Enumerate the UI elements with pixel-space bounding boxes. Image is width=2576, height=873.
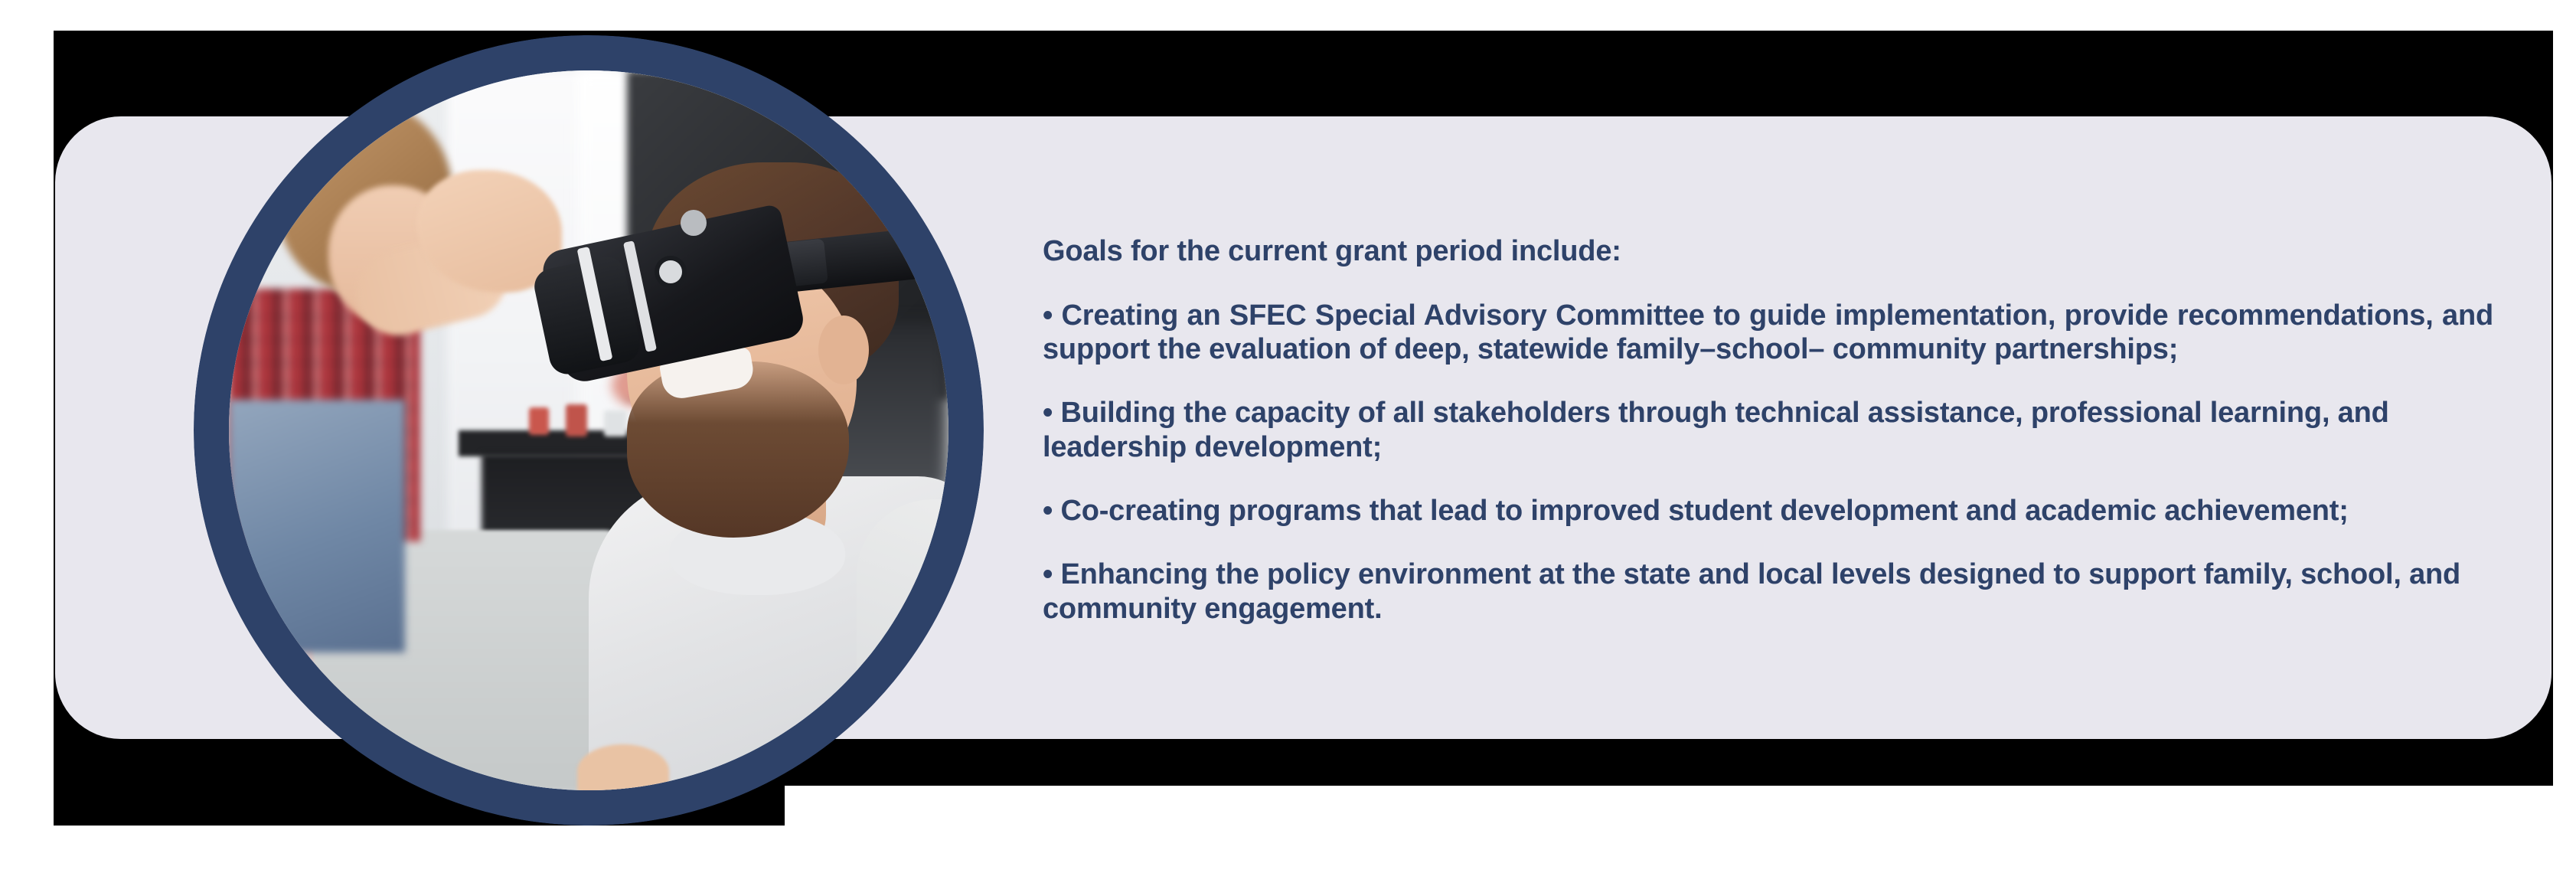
goal-bullet-4: • Enhancing the policy environment at th… bbox=[1043, 557, 2493, 626]
photo-shelf-object-2 bbox=[566, 404, 587, 436]
circular-photo-image bbox=[229, 70, 948, 790]
goal-bullet-1: • Creating an SFEC Special Advisory Comm… bbox=[1043, 299, 2493, 368]
goal-bullet-2: • Building the capacity of all stakehold… bbox=[1043, 396, 2493, 465]
photo-man-ear bbox=[818, 316, 869, 384]
goals-text-column: Goals for the current grant period inclu… bbox=[1043, 234, 2493, 626]
photo-vr-knob bbox=[681, 210, 707, 236]
photo-shelf-object-3 bbox=[604, 410, 627, 436]
slide-canvas: Goals for the current grant period inclu… bbox=[0, 0, 2576, 873]
photo-shelf-object-1 bbox=[529, 407, 549, 435]
goal-bullet-3: • Co-creating programs that lead to impr… bbox=[1043, 494, 2493, 528]
photo-vr-lens bbox=[659, 260, 682, 283]
photo-child-overalls bbox=[229, 400, 405, 652]
goals-heading: Goals for the current grant period inclu… bbox=[1043, 234, 2493, 270]
circular-photo-ring bbox=[194, 35, 984, 826]
